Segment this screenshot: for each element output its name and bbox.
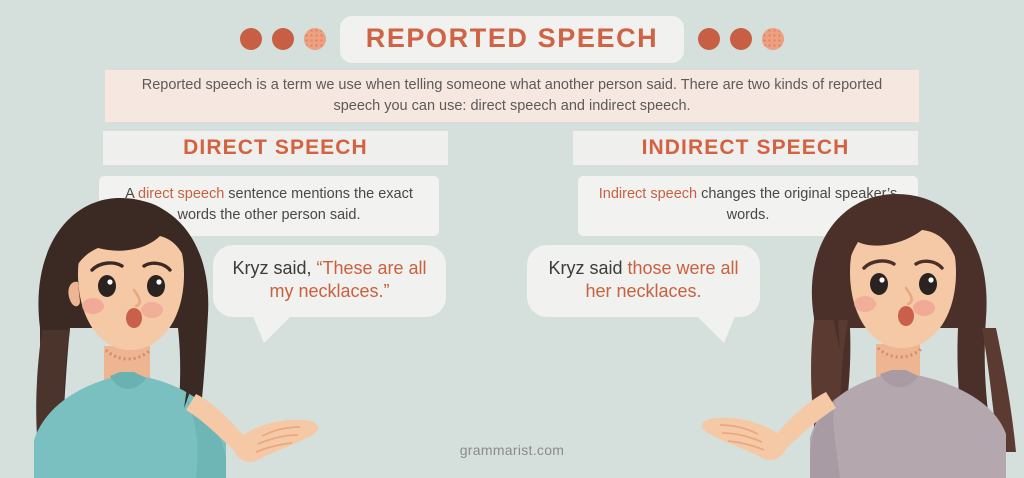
eye-highlight-right [928, 277, 933, 282]
blush-left [82, 298, 104, 314]
speckled-dot-icon [762, 28, 784, 50]
speckled-dot-icon [304, 28, 326, 50]
blush-right [141, 302, 163, 318]
decorative-dots-right [698, 28, 784, 50]
eye-left [98, 275, 116, 297]
eye-right [919, 273, 937, 295]
character-illustration-direct-speech [0, 178, 340, 478]
eye-highlight-left [107, 279, 112, 284]
mouth [898, 306, 914, 326]
footer-site-name: grammarist.com [460, 442, 565, 458]
footer: grammarist.com [0, 442, 1024, 460]
blush-right [913, 300, 935, 316]
circle-dot-icon [272, 28, 294, 50]
circle-dot-icon [730, 28, 752, 50]
section-header-direct-speech: DIRECT SPEECH [103, 131, 448, 165]
speech-lead: Kryz said [548, 258, 627, 278]
eye-highlight-left [879, 277, 884, 282]
blush-left [854, 296, 876, 312]
circle-dot-icon [698, 28, 720, 50]
eye-highlight-right [156, 279, 161, 284]
intro-banner: Reported speech is a term we use when te… [105, 70, 919, 122]
intro-text: Reported speech is a term we use when te… [129, 75, 895, 118]
character-illustration-indirect-speech [664, 178, 1024, 478]
decorative-dots-left [240, 28, 326, 50]
page-title: REPORTED SPEECH [340, 16, 685, 63]
section-header-label: DIRECT SPEECH [183, 136, 368, 160]
section-header-label: INDIRECT SPEECH [642, 136, 850, 160]
title-row: REPORTED SPEECH [0, 14, 1024, 64]
mouth [126, 308, 142, 328]
page-title-text: REPORTED SPEECH [366, 23, 659, 53]
section-header-indirect-speech: INDIRECT SPEECH [573, 131, 918, 165]
eye-right [147, 275, 165, 297]
circle-dot-icon [240, 28, 262, 50]
eye-left [870, 273, 888, 295]
